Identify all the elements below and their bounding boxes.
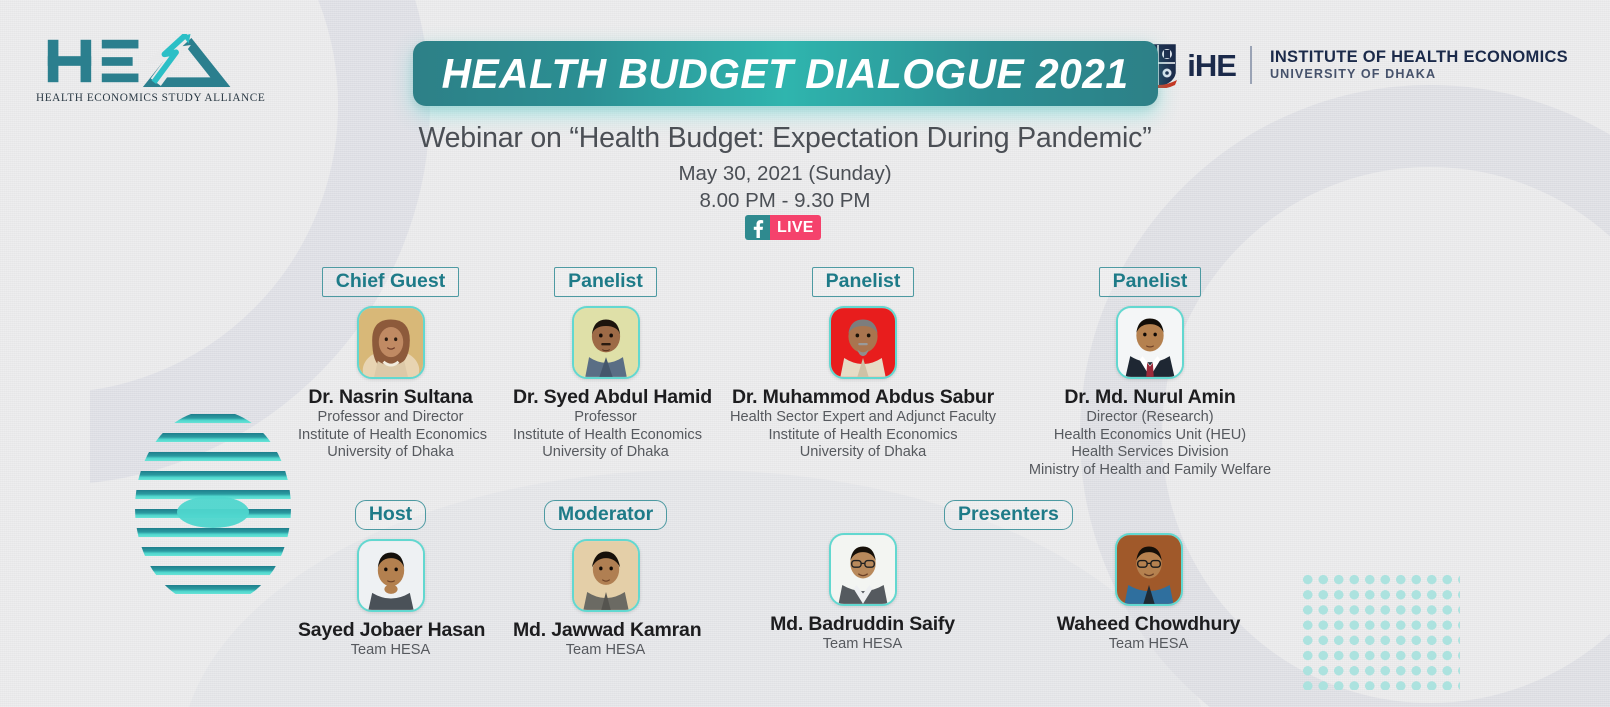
ihe-fullname: INSTITUTE OF HEALTH ECONOMICS UNIVERSITY…	[1270, 48, 1568, 82]
avatar-nasrin-sultana	[357, 306, 425, 379]
role-badge: Presenters	[944, 500, 1073, 530]
person-detail-line: Professor	[513, 409, 698, 427]
hesa-tagline: HEALTH ECONOMICS STUDY ALLIANCE	[36, 92, 251, 104]
facebook-icon[interactable]	[745, 215, 770, 240]
event-subtitle: Webinar on “Health Budget: Expectation D…	[0, 122, 1570, 155]
facebook-live-badge[interactable]: LIVE	[745, 215, 821, 240]
person-detail-line: Team HESA	[770, 636, 955, 654]
poster-content: HEALTH ECONOMICS STUDY ALLIANCE iHE INST…	[0, 0, 1610, 707]
role-badge: Moderator	[544, 500, 667, 530]
person-name: Dr. Nasrin Sultana	[298, 386, 483, 409]
person-card-panelist-1: Panelist Dr. Syed Abdul Hamid Professor …	[513, 267, 698, 462]
person-detail-line: Professor and Director	[298, 409, 483, 427]
person-name: Dr. Md. Nurul Amin	[1010, 386, 1290, 409]
person-detail-line: University of Dhaka	[513, 444, 698, 462]
ihe-logo: iHE INSTITUTE OF HEALTH ECONOMICS UNIVER…	[1137, 42, 1568, 88]
person-detail-line: Health Sector Expert and Adjunct Faculty	[723, 409, 1003, 427]
avatar-sayed-jobaer-hasan	[357, 539, 425, 612]
avatar-md-jawwad-kamran	[572, 539, 640, 612]
person-detail-line: Institute of Health Economics	[723, 427, 1003, 445]
ihe-divider	[1250, 46, 1252, 84]
avatar-waheed-chowdhury	[1115, 533, 1183, 606]
event-datetime: May 30, 2021 (Sunday) 8.00 PM - 9.30 PM	[0, 160, 1570, 214]
person-card-chief-guest: Chief Guest Dr. Nasrin Sultana Professor…	[298, 267, 483, 462]
person-name: Md. Jawwad Kamran	[513, 619, 698, 642]
person-name: Waheed Chowdhury	[1056, 613, 1241, 636]
person-card-presenter-2: Waheed Chowdhury Team HESA	[1056, 533, 1241, 654]
person-card-panelist-3: Panelist Dr. Md. Nurul Amin Director (Re…	[1010, 267, 1290, 480]
person-detail-line: Team HESA	[513, 642, 698, 660]
role-badge: Panelist	[1099, 267, 1202, 297]
ihe-abbrev: iHE	[1187, 50, 1236, 81]
event-title-banner: HEALTH BUDGET DIALOGUE 2021	[413, 41, 1158, 106]
person-detail-line: Health Services Division	[1010, 444, 1290, 462]
person-card-presenter-1: Md. Badruddin Saify Team HESA	[770, 533, 955, 654]
person-detail-line: Health Economics Unit (HEU)	[1010, 427, 1290, 445]
person-card-panelist-2: Panelist Dr. Muhammod Abdus Sabur Health…	[723, 267, 1003, 462]
event-title: HEALTH BUDGET DIALOGUE 2021	[442, 50, 1129, 98]
presenters-group-badge: Presenters	[944, 500, 1069, 530]
person-detail-line: University of Dhaka	[298, 444, 483, 462]
hesa-mark-icon	[42, 34, 245, 88]
avatar-md-badruddin-saify	[829, 533, 897, 606]
avatar-muhammod-abdus-sabur	[829, 306, 897, 379]
role-badge: Chief Guest	[322, 267, 459, 297]
person-name: Dr. Syed Abdul Hamid	[513, 386, 698, 409]
event-date: May 30, 2021 (Sunday)	[0, 160, 1570, 187]
avatar-md-nurul-amin	[1116, 306, 1184, 379]
person-detail-line: Institute of Health Economics	[513, 427, 698, 445]
person-name: Sayed Jobaer Hasan	[298, 619, 483, 642]
role-badge: Panelist	[554, 267, 657, 297]
ihe-institute-line: INSTITUTE OF HEALTH ECONOMICS	[1270, 48, 1568, 67]
person-detail-line: Director (Research)	[1010, 409, 1290, 427]
role-badge: Panelist	[812, 267, 915, 297]
person-card-host: Host Sayed Jobaer Hasan Team HESA	[298, 500, 483, 660]
ihe-university-line: UNIVERSITY OF DHAKA	[1270, 67, 1568, 82]
avatar-syed-abdul-hamid	[572, 306, 640, 379]
person-detail-line: Institute of Health Economics	[298, 427, 483, 445]
person-card-moderator: Moderator Md. Jawwad Kamran Team HESA	[513, 500, 698, 660]
person-detail-line: University of Dhaka	[723, 444, 1003, 462]
ihe-abbrev-text: iHE	[1187, 50, 1236, 81]
person-detail-line: Team HESA	[298, 642, 483, 660]
person-name: Md. Badruddin Saify	[770, 613, 955, 636]
role-badge: Host	[355, 500, 426, 530]
hesa-logo: HEALTH ECONOMICS STUDY ALLIANCE	[36, 34, 251, 104]
person-name: Dr. Muhammod Abdus Sabur	[723, 386, 1003, 409]
event-time: 8.00 PM - 9.30 PM	[0, 187, 1570, 214]
person-detail-line: Team HESA	[1056, 636, 1241, 654]
live-label[interactable]: LIVE	[770, 215, 821, 240]
person-detail-line: Ministry of Health and Family Welfare	[1010, 462, 1290, 480]
